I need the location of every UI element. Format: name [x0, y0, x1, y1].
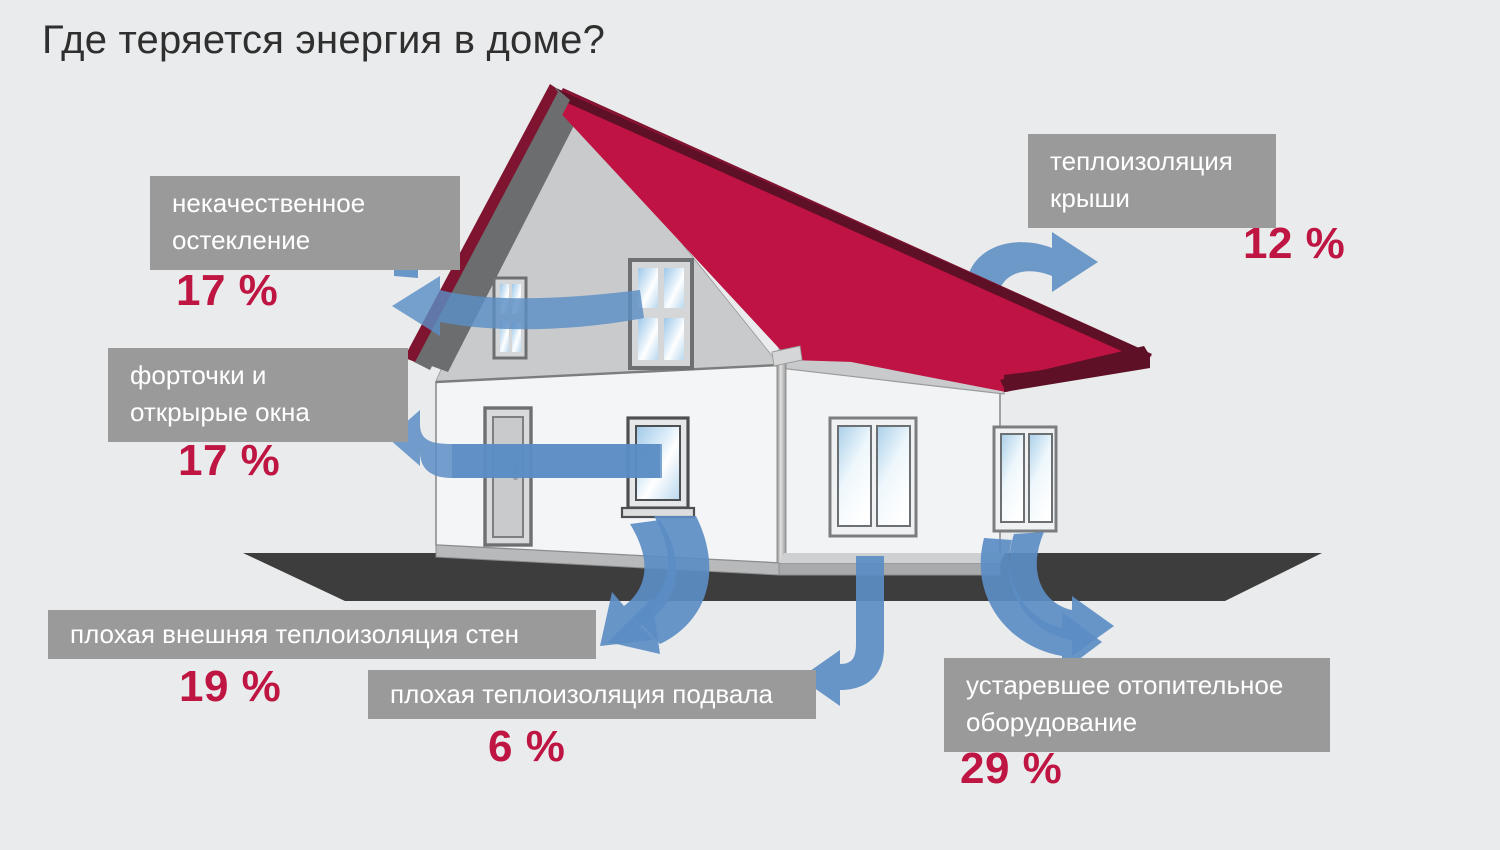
callout-label-glazing: некачественное остекление [150, 176, 460, 270]
callout-value-roof: 12 % [1243, 219, 1345, 269]
infographic-canvas: Где теряется энергия в доме? некачествен… [0, 0, 1500, 850]
callout-label-roof: теплоизоляция крыши [1028, 134, 1276, 228]
callout-label-basement: плохая теплоизоляция подвала [368, 670, 816, 719]
callout-value-basement: 6 % [488, 722, 565, 772]
callout-value-vents: 17 % [178, 436, 280, 486]
callout-label-vents: форточки и открырые окна [108, 348, 408, 442]
callout-value-heating: 29 % [960, 744, 1062, 794]
callout-value-glazing: 17 % [176, 266, 278, 316]
callout-value-walls: 19 % [179, 662, 281, 712]
side-patio-door-left [830, 418, 916, 536]
page-title: Где теряется энергия в доме? [42, 18, 605, 63]
callout-label-walls: плохая внешняя теплоизоляция стен [48, 610, 596, 659]
callout-label-heating: устаревшее отопительное оборудование [944, 658, 1330, 752]
